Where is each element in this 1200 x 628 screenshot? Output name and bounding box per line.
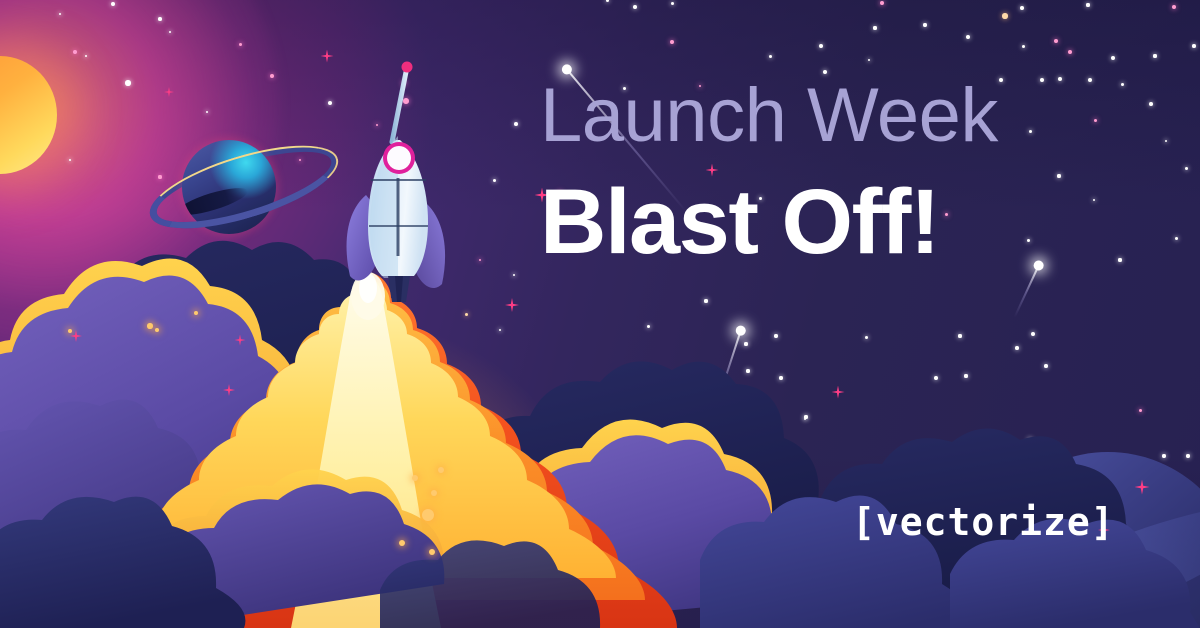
ember-particle (429, 549, 435, 555)
star-icon (633, 5, 637, 9)
star-icon (1015, 346, 1019, 350)
star-icon (704, 299, 707, 302)
star-icon (158, 17, 162, 21)
ember-particle (412, 475, 418, 481)
kicker-text: Launch Week (540, 78, 1160, 154)
star-icon (1020, 6, 1024, 10)
star-icon (744, 342, 747, 345)
vectorize-logo: [vectorize] (852, 500, 1115, 544)
star-icon (779, 376, 782, 379)
star-icon (880, 1, 884, 5)
star-icon (1162, 454, 1165, 457)
page-title: Blast Off! (540, 176, 1160, 268)
star-icon (873, 26, 876, 29)
star-icon (1022, 45, 1025, 48)
headline-block: Launch Week Blast Off! (540, 78, 1160, 268)
star-icon (465, 313, 468, 316)
rocket-antenna (392, 72, 406, 142)
star-icon (1153, 54, 1156, 57)
star-icon (647, 325, 650, 328)
star-icon (125, 80, 130, 85)
star-icon (1086, 3, 1089, 6)
rocket-icon (330, 50, 470, 310)
ringed-planet (148, 128, 338, 248)
star-icon (612, 449, 615, 452)
star-icon (1068, 50, 1072, 54)
star-icon (1192, 44, 1196, 48)
star-icon (514, 122, 518, 126)
star-icon (769, 55, 772, 58)
star-icon (1139, 409, 1142, 412)
ember-particle (431, 490, 437, 496)
star-icon (699, 479, 702, 482)
ember-particle (399, 540, 405, 546)
star-icon (1031, 332, 1035, 336)
ember-particle (422, 509, 434, 521)
star-icon (746, 369, 749, 372)
star-icon (934, 376, 938, 380)
star-icon (239, 43, 242, 46)
star-icon (671, 2, 674, 5)
star-icon (1006, 488, 1009, 491)
antenna-tip (402, 62, 413, 73)
star-icon (958, 334, 961, 337)
star-icon (768, 442, 771, 445)
ember-particle (147, 323, 152, 328)
rocket-window (387, 146, 411, 170)
star-icon (1044, 364, 1048, 368)
star-icon (923, 23, 926, 26)
star-icon (1185, 167, 1188, 170)
star-icon (1028, 438, 1031, 441)
star-icon (1002, 13, 1007, 18)
star-icon (73, 50, 77, 54)
ember-particle (438, 467, 444, 473)
star-icon (493, 179, 496, 182)
star-icon (867, 486, 870, 489)
launch-week-banner: Launch Week Blast Off! [vectorize] (0, 0, 1200, 628)
star-icon (774, 334, 777, 337)
star-icon (1175, 237, 1178, 240)
star-icon (606, 0, 609, 2)
star-icon (1186, 454, 1189, 457)
star-icon (453, 535, 456, 538)
star-icon (964, 374, 967, 377)
star-icon (865, 336, 868, 339)
